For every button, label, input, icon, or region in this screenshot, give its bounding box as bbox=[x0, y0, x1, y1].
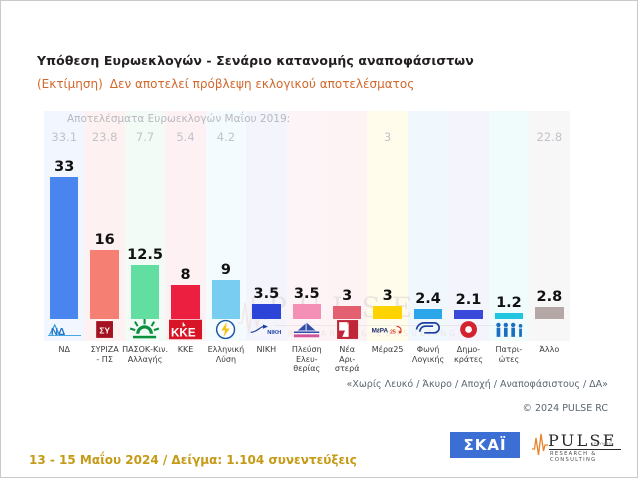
bar-niki bbox=[252, 304, 280, 319]
old-result-value: 5.4 bbox=[165, 130, 205, 144]
x-axis-label-line: Αρι- bbox=[323, 355, 371, 365]
page-subtitle: (Εκτίμηση)Δεν αποτελεί πρόβλεψη εκλογικο… bbox=[37, 77, 414, 91]
patriotes-logo bbox=[492, 319, 525, 340]
x-axis-label-line: Λύση bbox=[202, 355, 250, 365]
syriza-logo: ΣΥ bbox=[88, 319, 121, 340]
bar-syriza bbox=[90, 250, 118, 319]
niki-logo: ΝΙΚΗ bbox=[250, 319, 283, 340]
bar-value-label: 16 bbox=[84, 232, 124, 248]
allo-swatch bbox=[533, 319, 566, 340]
bar-nd bbox=[50, 177, 78, 319]
old-result-value: 7.7 bbox=[125, 130, 165, 144]
page-title: Υπόθεση Ευρωεκλογών - Σενάριο κατανομής … bbox=[37, 53, 474, 68]
svg-text:ΝΔ: ΝΔ bbox=[51, 327, 65, 338]
foni-logikis-logo bbox=[411, 319, 444, 340]
x-axis-label-line: Αλλαγής bbox=[121, 355, 169, 365]
pulse-logo-rule bbox=[549, 449, 621, 450]
bar-value-label: 8 bbox=[165, 267, 205, 283]
dimokrates-logo bbox=[452, 319, 485, 340]
bar-value-label: 9 bbox=[206, 262, 246, 278]
x-axis-label-line: ώτες bbox=[485, 355, 533, 365]
old-result-value: 3 bbox=[367, 130, 407, 144]
bar-foni-logikis bbox=[414, 309, 442, 319]
fieldwork-date-sample: 13 - 15 Μαΐου 2024 / Δείγμα: 1.104 συνεν… bbox=[29, 453, 357, 467]
skai-logo: ΣΚΑΪ bbox=[450, 432, 520, 458]
pulse-logo-small-text: ΕΡΕΥΝΩΝ bbox=[591, 442, 612, 446]
bar-value-label: 12.5 bbox=[125, 247, 165, 263]
bar-value-label: 2.8 bbox=[529, 289, 569, 305]
nea-aristera-logo bbox=[331, 319, 364, 340]
bar-value-label: 1.2 bbox=[489, 295, 529, 311]
footnote-exclusions: «Χωρίς Λευκό / Άκυρο / Αποχή / Αναποφάσι… bbox=[347, 379, 608, 390]
bar-dimokrates bbox=[454, 310, 482, 319]
svg-text:25: 25 bbox=[390, 329, 396, 335]
x-axis-label: Άλλο bbox=[525, 345, 573, 355]
bar-kke bbox=[171, 285, 199, 319]
skai-logo-text: ΣΚΑΪ bbox=[463, 436, 506, 454]
bar-value-label: 3.5 bbox=[246, 286, 286, 302]
bar-value-label: 3.5 bbox=[287, 286, 327, 302]
bar-plefsi bbox=[293, 304, 321, 319]
svg-text:ΚΚΕ: ΚΚΕ bbox=[171, 326, 196, 339]
chart-column-band-spacer bbox=[570, 111, 610, 341]
bar-value-label: 2.1 bbox=[448, 292, 488, 308]
subtitle-disclaimer: Δεν αποτελεί πρόβλεψη εκλογικού αποτελέσ… bbox=[110, 77, 415, 91]
svg-text:ΣΥ: ΣΥ bbox=[99, 326, 110, 336]
x-axis-label-line: στερά bbox=[323, 364, 371, 374]
old-results-header: Αποτελέσματα Ευρωεκλογών Μαΐου 2019: bbox=[67, 113, 290, 125]
svg-text:ΝΙΚΗ: ΝΙΚΗ bbox=[267, 330, 281, 336]
mera25-logo: ΜέΡΑ25 bbox=[371, 319, 404, 340]
kke-logo: ΚΚΕ bbox=[169, 319, 202, 340]
bar-mera25 bbox=[373, 306, 401, 319]
bar-elliniki-lysi bbox=[212, 280, 240, 319]
pulse-wave-icon-small bbox=[531, 432, 549, 458]
pulse-logo-word: PULSE bbox=[548, 431, 617, 450]
x-axis-label-line: Άλλο bbox=[525, 345, 573, 355]
bar-value-label: 3 bbox=[367, 288, 407, 304]
pasok-logo bbox=[128, 319, 161, 340]
bar-pasok bbox=[131, 265, 159, 319]
old-result-value: 33.1 bbox=[44, 130, 84, 144]
pulse-logo-tagline: RESEARCH & CONSULTING bbox=[550, 451, 621, 463]
old-result-value: 4.2 bbox=[206, 130, 246, 144]
subtitle-estimate-tag: (Εκτίμηση) bbox=[37, 77, 103, 91]
elliniki-lysi-logo bbox=[209, 319, 242, 340]
old-result-value: 22.8 bbox=[529, 130, 569, 144]
bar-nea-aristera bbox=[333, 306, 361, 319]
pulse-logo: PULSE ΕΡΕΥΝΩΝ RESEARCH & CONSULTING bbox=[531, 431, 621, 461]
bar-value-label: 33 bbox=[44, 159, 84, 175]
plefsi-logo bbox=[290, 319, 323, 340]
old-result-value: 23.8 bbox=[84, 130, 124, 144]
bar-allo bbox=[535, 307, 563, 319]
nd-logo: ΝΔ bbox=[48, 319, 81, 340]
bar-value-label: 2.4 bbox=[408, 291, 448, 307]
bar-value-label: 3 bbox=[327, 288, 367, 304]
copyright-text: © 2024 PULSE RC bbox=[522, 403, 608, 414]
poll-chart-infographic: Υπόθεση Ευρωεκλογών - Σενάριο κατανομής … bbox=[0, 0, 638, 478]
svg-text:ΜέΡΑ: ΜέΡΑ bbox=[372, 328, 389, 335]
